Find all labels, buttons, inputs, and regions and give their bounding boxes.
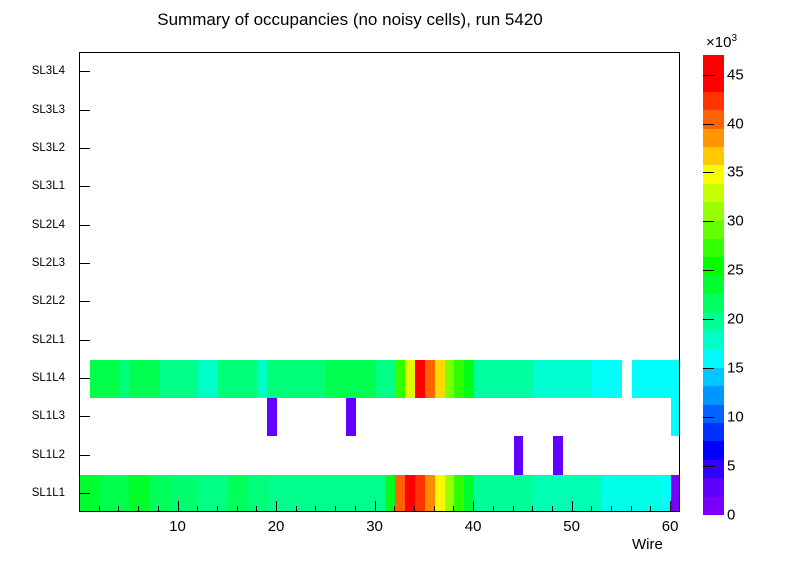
heatmap-cell xyxy=(454,360,464,398)
y-axis-tick xyxy=(79,340,90,341)
color-scale-segment xyxy=(703,441,724,460)
x-axis-minor-tick xyxy=(256,506,257,512)
y-axis-tick xyxy=(79,455,90,456)
x-axis-minor-tick xyxy=(434,506,435,512)
color-scale-tick xyxy=(703,172,714,173)
y-axis-label-sl3l1: SL3L1 xyxy=(0,180,65,192)
y-axis-tick xyxy=(79,186,90,187)
plot-canvas: Summary of occupancies (no noisy cells),… xyxy=(0,0,796,572)
y-axis-label-sl1l1: SL1L1 xyxy=(0,487,65,499)
color-scale-tick-label: 0 xyxy=(727,507,735,524)
x-axis-tick-label: 30 xyxy=(366,518,383,535)
y-axis-label-sl3l2: SL3L2 xyxy=(0,142,65,154)
heatmap-cell xyxy=(376,360,396,398)
x-axis-tick-label: 60 xyxy=(662,518,679,535)
heatmap-cell xyxy=(445,360,455,398)
y-axis-label-sl1l2: SL1L2 xyxy=(0,449,65,461)
heatmap-cell xyxy=(395,475,405,511)
x-axis-minor-tick xyxy=(355,506,356,512)
x-axis-tick-label: 40 xyxy=(465,518,482,535)
heatmap-cell xyxy=(198,475,228,511)
heatmap-cell xyxy=(395,360,405,398)
x-axis-minor-tick xyxy=(217,506,218,512)
y-axis-tick xyxy=(79,493,90,494)
x-axis-minor-tick xyxy=(493,506,494,512)
color-scale-segment xyxy=(703,55,724,73)
heatmap-cell xyxy=(267,475,385,511)
color-scale-segment xyxy=(703,349,724,368)
color-scale-segment xyxy=(703,330,724,349)
color-scale-multiplier: ×103 xyxy=(706,33,737,51)
y-axis-tick xyxy=(79,110,90,111)
x-axis-minor-tick xyxy=(394,506,395,512)
color-scale-segment xyxy=(703,422,724,441)
heatmap-cell xyxy=(346,398,356,436)
plot-frame xyxy=(79,52,680,512)
x-axis-major-tick xyxy=(276,501,277,512)
x-axis-minor-tick xyxy=(79,506,80,512)
color-scale-tick-label: 15 xyxy=(727,360,744,377)
x-axis-minor-tick xyxy=(335,506,336,512)
color-scale-segment xyxy=(703,165,724,184)
heatmap-cell xyxy=(474,360,533,398)
x-axis-minor-tick xyxy=(591,506,592,512)
y-axis-tick xyxy=(79,225,90,226)
color-scale-segment xyxy=(703,91,724,110)
x-axis-major-tick xyxy=(375,501,376,512)
x-axis-minor-tick xyxy=(118,506,119,512)
x-axis-minor-tick xyxy=(631,506,632,512)
heatmap-cell xyxy=(405,360,415,398)
heatmap-cell xyxy=(592,360,622,398)
x-axis-tick-label: 10 xyxy=(169,518,186,535)
x-axis-tick-label: 20 xyxy=(268,518,285,535)
color-scale-segment xyxy=(703,478,724,497)
heatmap-cell xyxy=(671,475,679,511)
heatmap-cell xyxy=(454,475,464,511)
y-axis-tick xyxy=(79,263,90,264)
color-scale-tick-label: 35 xyxy=(727,164,744,181)
color-scale-segment xyxy=(703,238,724,257)
color-scale-tick-label: 5 xyxy=(727,458,735,475)
heatmap-cell xyxy=(326,360,375,398)
color-scale-segment xyxy=(703,257,724,276)
heatmap-cell xyxy=(415,360,425,398)
heatmap-cell xyxy=(435,360,445,398)
color-scale-segment xyxy=(703,294,724,313)
y-axis-tick xyxy=(79,71,90,72)
heatmap-cell xyxy=(533,360,592,398)
color-scale-tick xyxy=(703,75,714,76)
x-axis-minor-tick xyxy=(237,506,238,512)
x-axis-major-tick xyxy=(572,501,573,512)
heatmap-cell xyxy=(464,360,474,398)
heatmap-cell xyxy=(415,475,425,511)
x-axis-tick-label: 50 xyxy=(563,518,580,535)
x-axis-major-tick xyxy=(473,501,474,512)
color-scale-tick xyxy=(703,319,714,320)
color-scale-segment xyxy=(703,146,724,165)
color-scale-tick-label: 10 xyxy=(727,409,744,426)
x-axis-minor-tick xyxy=(99,506,100,512)
x-axis-minor-tick xyxy=(532,506,533,512)
color-scale-tick xyxy=(703,368,714,369)
y-axis-tick xyxy=(79,378,90,379)
heatmap-cell xyxy=(632,360,679,398)
color-scale-segment xyxy=(703,110,724,129)
x-axis-minor-tick xyxy=(611,506,612,512)
color-scale-segment xyxy=(703,367,724,386)
color-scale-tick xyxy=(703,417,714,418)
color-scale-segment xyxy=(703,312,724,331)
color-scale-tick-label: 30 xyxy=(727,213,744,230)
y-axis-tick xyxy=(79,301,90,302)
color-scale-multiplier-exponent: 3 xyxy=(731,33,737,44)
y-axis-label-sl3l3: SL3L3 xyxy=(0,104,65,116)
y-axis-label-sl3l4: SL3L4 xyxy=(0,65,65,77)
heatmap-cell xyxy=(228,475,248,511)
color-scale-segment xyxy=(703,459,724,478)
x-axis-minor-tick xyxy=(138,506,139,512)
x-axis-minor-tick xyxy=(197,506,198,512)
x-axis-minor-tick xyxy=(650,506,651,512)
heatmap-cell xyxy=(267,360,326,398)
color-scale-tick xyxy=(703,270,714,271)
heatmap-cell xyxy=(671,398,679,436)
y-axis-label-sl2l4: SL2L4 xyxy=(0,219,65,231)
y-axis-label-sl2l3: SL2L3 xyxy=(0,257,65,269)
color-scale-segment xyxy=(703,220,724,239)
x-axis-major-tick xyxy=(178,501,179,512)
x-axis-minor-tick xyxy=(414,506,415,512)
x-axis-title: Wire xyxy=(632,536,663,553)
color-scale-tick xyxy=(703,221,714,222)
x-axis-minor-tick xyxy=(158,506,159,512)
color-scale-tick-label: 20 xyxy=(727,311,744,328)
heatmap-cell xyxy=(435,475,445,511)
heatmap-cell xyxy=(425,360,435,398)
y-axis-label-sl1l3: SL1L3 xyxy=(0,410,65,422)
y-axis-label-sl2l2: SL2L2 xyxy=(0,295,65,307)
color-scale-segment xyxy=(703,275,724,294)
heatmap-cell xyxy=(119,360,129,398)
x-axis-minor-tick xyxy=(552,506,553,512)
color-scale-segment xyxy=(703,202,724,221)
color-scale-tick-label: 25 xyxy=(727,262,744,279)
y-axis-tick xyxy=(79,416,90,417)
color-scale-tick-label: 45 xyxy=(727,66,744,83)
heatmap-cell xyxy=(218,360,257,398)
y-axis-label-sl1l4: SL1L4 xyxy=(0,372,65,384)
x-axis-minor-tick xyxy=(296,506,297,512)
page-title: Summary of occupancies (no noisy cells),… xyxy=(0,10,700,30)
x-axis-minor-tick xyxy=(453,506,454,512)
heatmap-cell xyxy=(553,436,563,474)
color-scale-segment xyxy=(703,496,724,515)
heatmap-cell xyxy=(474,475,533,511)
y-axis-tick xyxy=(79,148,90,149)
heatmap-cell xyxy=(198,360,218,398)
x-axis-minor-tick xyxy=(315,506,316,512)
color-scale-tick xyxy=(703,466,714,467)
heatmap-cell xyxy=(514,436,524,474)
x-axis-minor-tick xyxy=(513,506,514,512)
heatmap-cell xyxy=(169,475,199,511)
color-scale-tick-label: 40 xyxy=(727,115,744,132)
color-scale-tick xyxy=(703,124,714,125)
color-scale-segment xyxy=(703,404,724,423)
y-axis-label-sl2l1: SL2L1 xyxy=(0,334,65,346)
x-axis-major-tick xyxy=(670,501,671,512)
heatmap-cell xyxy=(159,360,198,398)
heatmap-cell xyxy=(257,360,267,398)
color-scale-segment xyxy=(703,386,724,405)
heatmap-cell xyxy=(129,360,159,398)
heatmap-cell xyxy=(90,360,120,398)
color-scale-segment xyxy=(703,183,724,202)
color-scale-segment xyxy=(703,73,724,92)
heatmap-cell xyxy=(267,398,277,436)
heatmap-plot-area[interactable] xyxy=(80,53,679,511)
heatmap-cell xyxy=(100,475,130,511)
color-scale-segment xyxy=(703,128,724,147)
